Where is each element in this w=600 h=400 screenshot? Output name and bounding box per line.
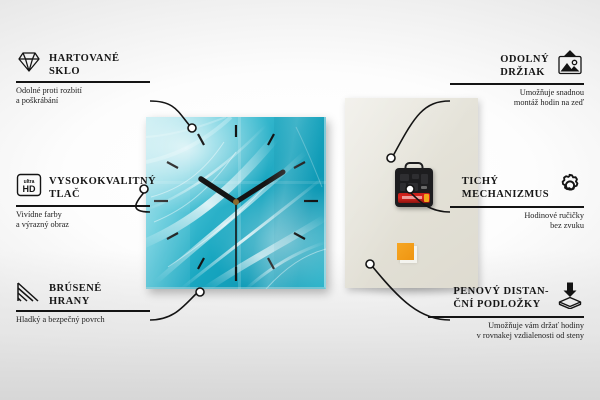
mechanism-detail [400, 183, 406, 191]
feature-header: HARTOVANÉ SKLO [16, 50, 150, 79]
infographic-stage: HARTOVANÉ SKLO Odolné proti rozbití a po… [0, 0, 600, 400]
feature-desc-line2: bez zvuku [450, 221, 584, 232]
feature-header: TICHÝ MECHANIZMUS [450, 172, 584, 204]
feature-title-line1: ODOLNÝ [500, 53, 549, 66]
ultra-hd-icon: ultra HD [16, 172, 42, 203]
mechanism-detail [421, 186, 427, 189]
feature-divider [450, 206, 584, 208]
feature-title-line2: ČNÍ PODLOŽKY [453, 298, 549, 311]
feature-title-line1: VYSOKOKVALITNÝ [49, 175, 156, 188]
feature-header: ODOLNÝ DRŽIAK [450, 50, 584, 81]
feature-desc-line2: a výrazný obraz [16, 220, 150, 231]
feature-desc-line1: Umožňuje vám držať hodiny [428, 321, 584, 332]
feature-desc-line1: Hladký a bezpečný povrch [16, 315, 150, 326]
feature-header: ultra HD VYSOKOKVALITNÝ TLAČ [16, 172, 150, 203]
feature-divider [16, 205, 150, 207]
feature-title-line2: HRANY [49, 295, 102, 308]
battery [398, 193, 430, 203]
mechanism-detail [400, 174, 409, 181]
feature-desc-line1: Umožňuje snadnou [450, 88, 584, 99]
feature-title-line2: TLAČ [49, 188, 156, 201]
feature-title-line1: PENOVÝ DISTAN- [453, 285, 549, 298]
glass-clock [146, 117, 326, 289]
feature-title-line2: SKLO [49, 65, 119, 78]
mechanism-detail [408, 183, 418, 191]
feature-tempered-glass[interactable]: HARTOVANÉ SKLO Odolné proti rozbití a po… [16, 50, 150, 107]
polished-edges-icon [16, 281, 42, 308]
clock-face-artwork [146, 117, 326, 289]
feature-header: PENOVÝ DISTAN- ČNÍ PODLOŽKY [428, 281, 584, 314]
feature-high-quality-print[interactable]: ultra HD VYSOKOKVALITNÝ TLAČ Vivídne far… [16, 172, 150, 231]
wall-hanger-picture-icon [556, 50, 584, 81]
clock-mechanism [395, 168, 433, 207]
feature-durable-hanger[interactable]: ODOLNÝ DRŽIAK Umožňuje snadnou montáž ho… [450, 50, 584, 109]
feature-desc-line1: Hodinové ručičky [450, 211, 584, 222]
feature-divider [428, 316, 584, 318]
feature-title-line2: MECHANIZMUS [462, 188, 549, 201]
feature-divider [16, 81, 150, 83]
feature-polished-edges[interactable]: BRÚSENÉ HRANY Hladký a bezpečný povrch [16, 281, 150, 325]
foam-spacer-pad [397, 243, 414, 260]
diamond-icon [16, 50, 42, 79]
feature-title-line1: BRÚSENÉ [49, 282, 102, 295]
feature-header: BRÚSENÉ HRANY [16, 281, 150, 308]
feature-divider [16, 310, 150, 312]
feature-desc-line2: montáž hodin na zeď [450, 98, 584, 109]
feature-title-line1: HARTOVANÉ [49, 52, 119, 65]
feature-title-line1: TICHÝ [462, 175, 549, 188]
feature-foam-spacers[interactable]: PENOVÝ DISTAN- ČNÍ PODLOŽKY Umožňuje vám… [428, 281, 584, 342]
feature-desc-line2: a poškrábání [16, 96, 150, 107]
feature-title-line2: DRŽIAK [500, 66, 549, 79]
feature-desc-line2: v rovnakej vzdialenosti od steny [428, 331, 584, 342]
gear-icon [556, 172, 584, 204]
battery-label [402, 196, 422, 199]
product-group [132, 100, 477, 295]
svg-text:HD: HD [23, 184, 36, 194]
mechanism-detail [412, 174, 419, 179]
foam-spacer-press-icon [556, 281, 584, 314]
feature-desc-line1: Vivídne farby [16, 210, 150, 221]
feature-divider [450, 83, 584, 85]
mechanism-detail [421, 174, 428, 184]
mechanism-hanger-icon [405, 162, 424, 172]
feature-silent-mechanism[interactable]: TICHÝ MECHANIZMUS Hodinové ručičky bez z… [450, 172, 584, 232]
feature-desc-line1: Odolné proti rozbití [16, 86, 150, 97]
